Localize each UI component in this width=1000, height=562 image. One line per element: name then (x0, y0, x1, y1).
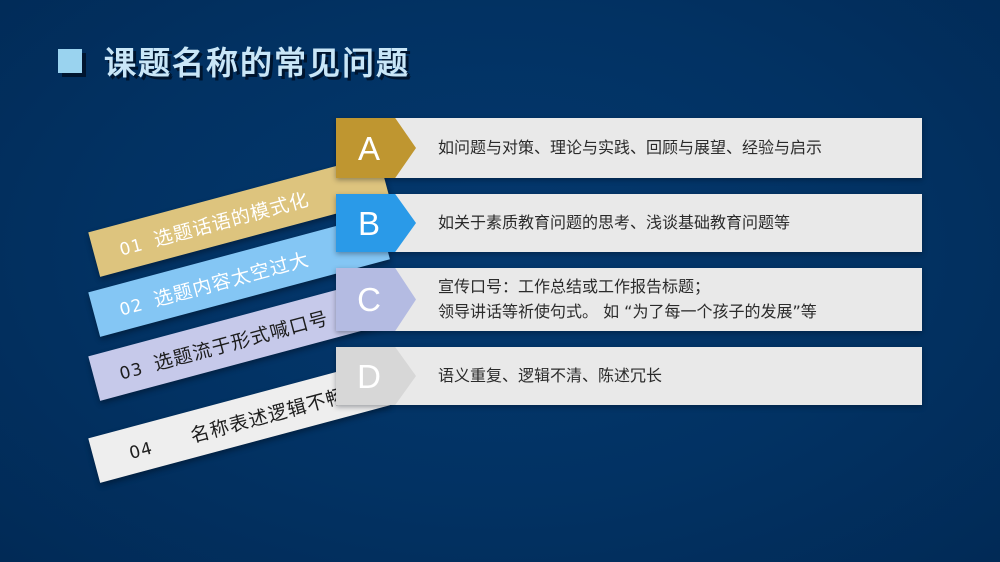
angled-label-04-inner: 04 名称表述逻辑不畅 (91, 380, 349, 473)
row-body-c: 宣传口号：工作总结或工作报告标题； 领导讲话等祈使句式。 如 “为了每一个孩子的… (416, 268, 922, 331)
content-row-c[interactable]: C 宣传口号：工作总结或工作报告标题； 领导讲话等祈使句式。 如 “为了每一个孩… (336, 268, 922, 331)
row-tag-c-letter: C (357, 283, 395, 316)
content-row-a[interactable]: A 如问题与对策、理论与实践、回顾与展望、经验与启示 (336, 118, 922, 178)
row-d-line-1: 语义重复、逻辑不清、陈述冗长 (438, 364, 904, 389)
row-tag-d-letter: D (357, 360, 395, 393)
angled-label-04-number: 04 (127, 438, 155, 463)
row-c-line-1: 宣传口号：工作总结或工作报告标题； (438, 275, 904, 300)
row-tag-c: C (336, 268, 416, 331)
angled-label-01-number: 01 (117, 235, 145, 260)
content-row-b[interactable]: B 如关于素质教育问题的思考、浅谈基础教育问题等 (336, 194, 922, 252)
row-tag-b-letter: B (358, 207, 394, 240)
slide-canvas: 课题名称的常见问题 01 选题话语的模式化 02 选题内容太空过大 03 选题流… (0, 0, 1000, 562)
row-body-b: 如关于素质教育问题的思考、浅谈基础教育问题等 (416, 194, 922, 252)
row-body-a: 如问题与对策、理论与实践、回顾与展望、经验与启示 (416, 118, 922, 178)
angled-label-03-number: 03 (117, 359, 145, 384)
row-tag-d: D (336, 347, 416, 405)
row-c-line-2: 领导讲话等祈使句式。 如 “为了每一个孩子的发展”等 (438, 300, 904, 325)
angled-label-04-text: 名称表述逻辑不畅 (187, 380, 349, 447)
row-tag-b: B (336, 194, 416, 252)
row-b-line-1: 如关于素质教育问题的思考、浅谈基础教育问题等 (438, 211, 904, 236)
row-a-line-1: 如问题与对策、理论与实践、回顾与展望、经验与启示 (438, 136, 904, 161)
content-row-list: A 如问题与对策、理论与实践、回顾与展望、经验与启示 B 如关于素质教育问题的思… (336, 118, 922, 421)
row-tag-a: A (336, 118, 416, 178)
content-row-d[interactable]: D 语义重复、逻辑不清、陈述冗长 (336, 347, 922, 405)
angled-label-02-number: 02 (117, 295, 145, 320)
row-tag-a-letter: A (358, 132, 394, 165)
row-body-d: 语义重复、逻辑不清、陈述冗长 (416, 347, 922, 405)
